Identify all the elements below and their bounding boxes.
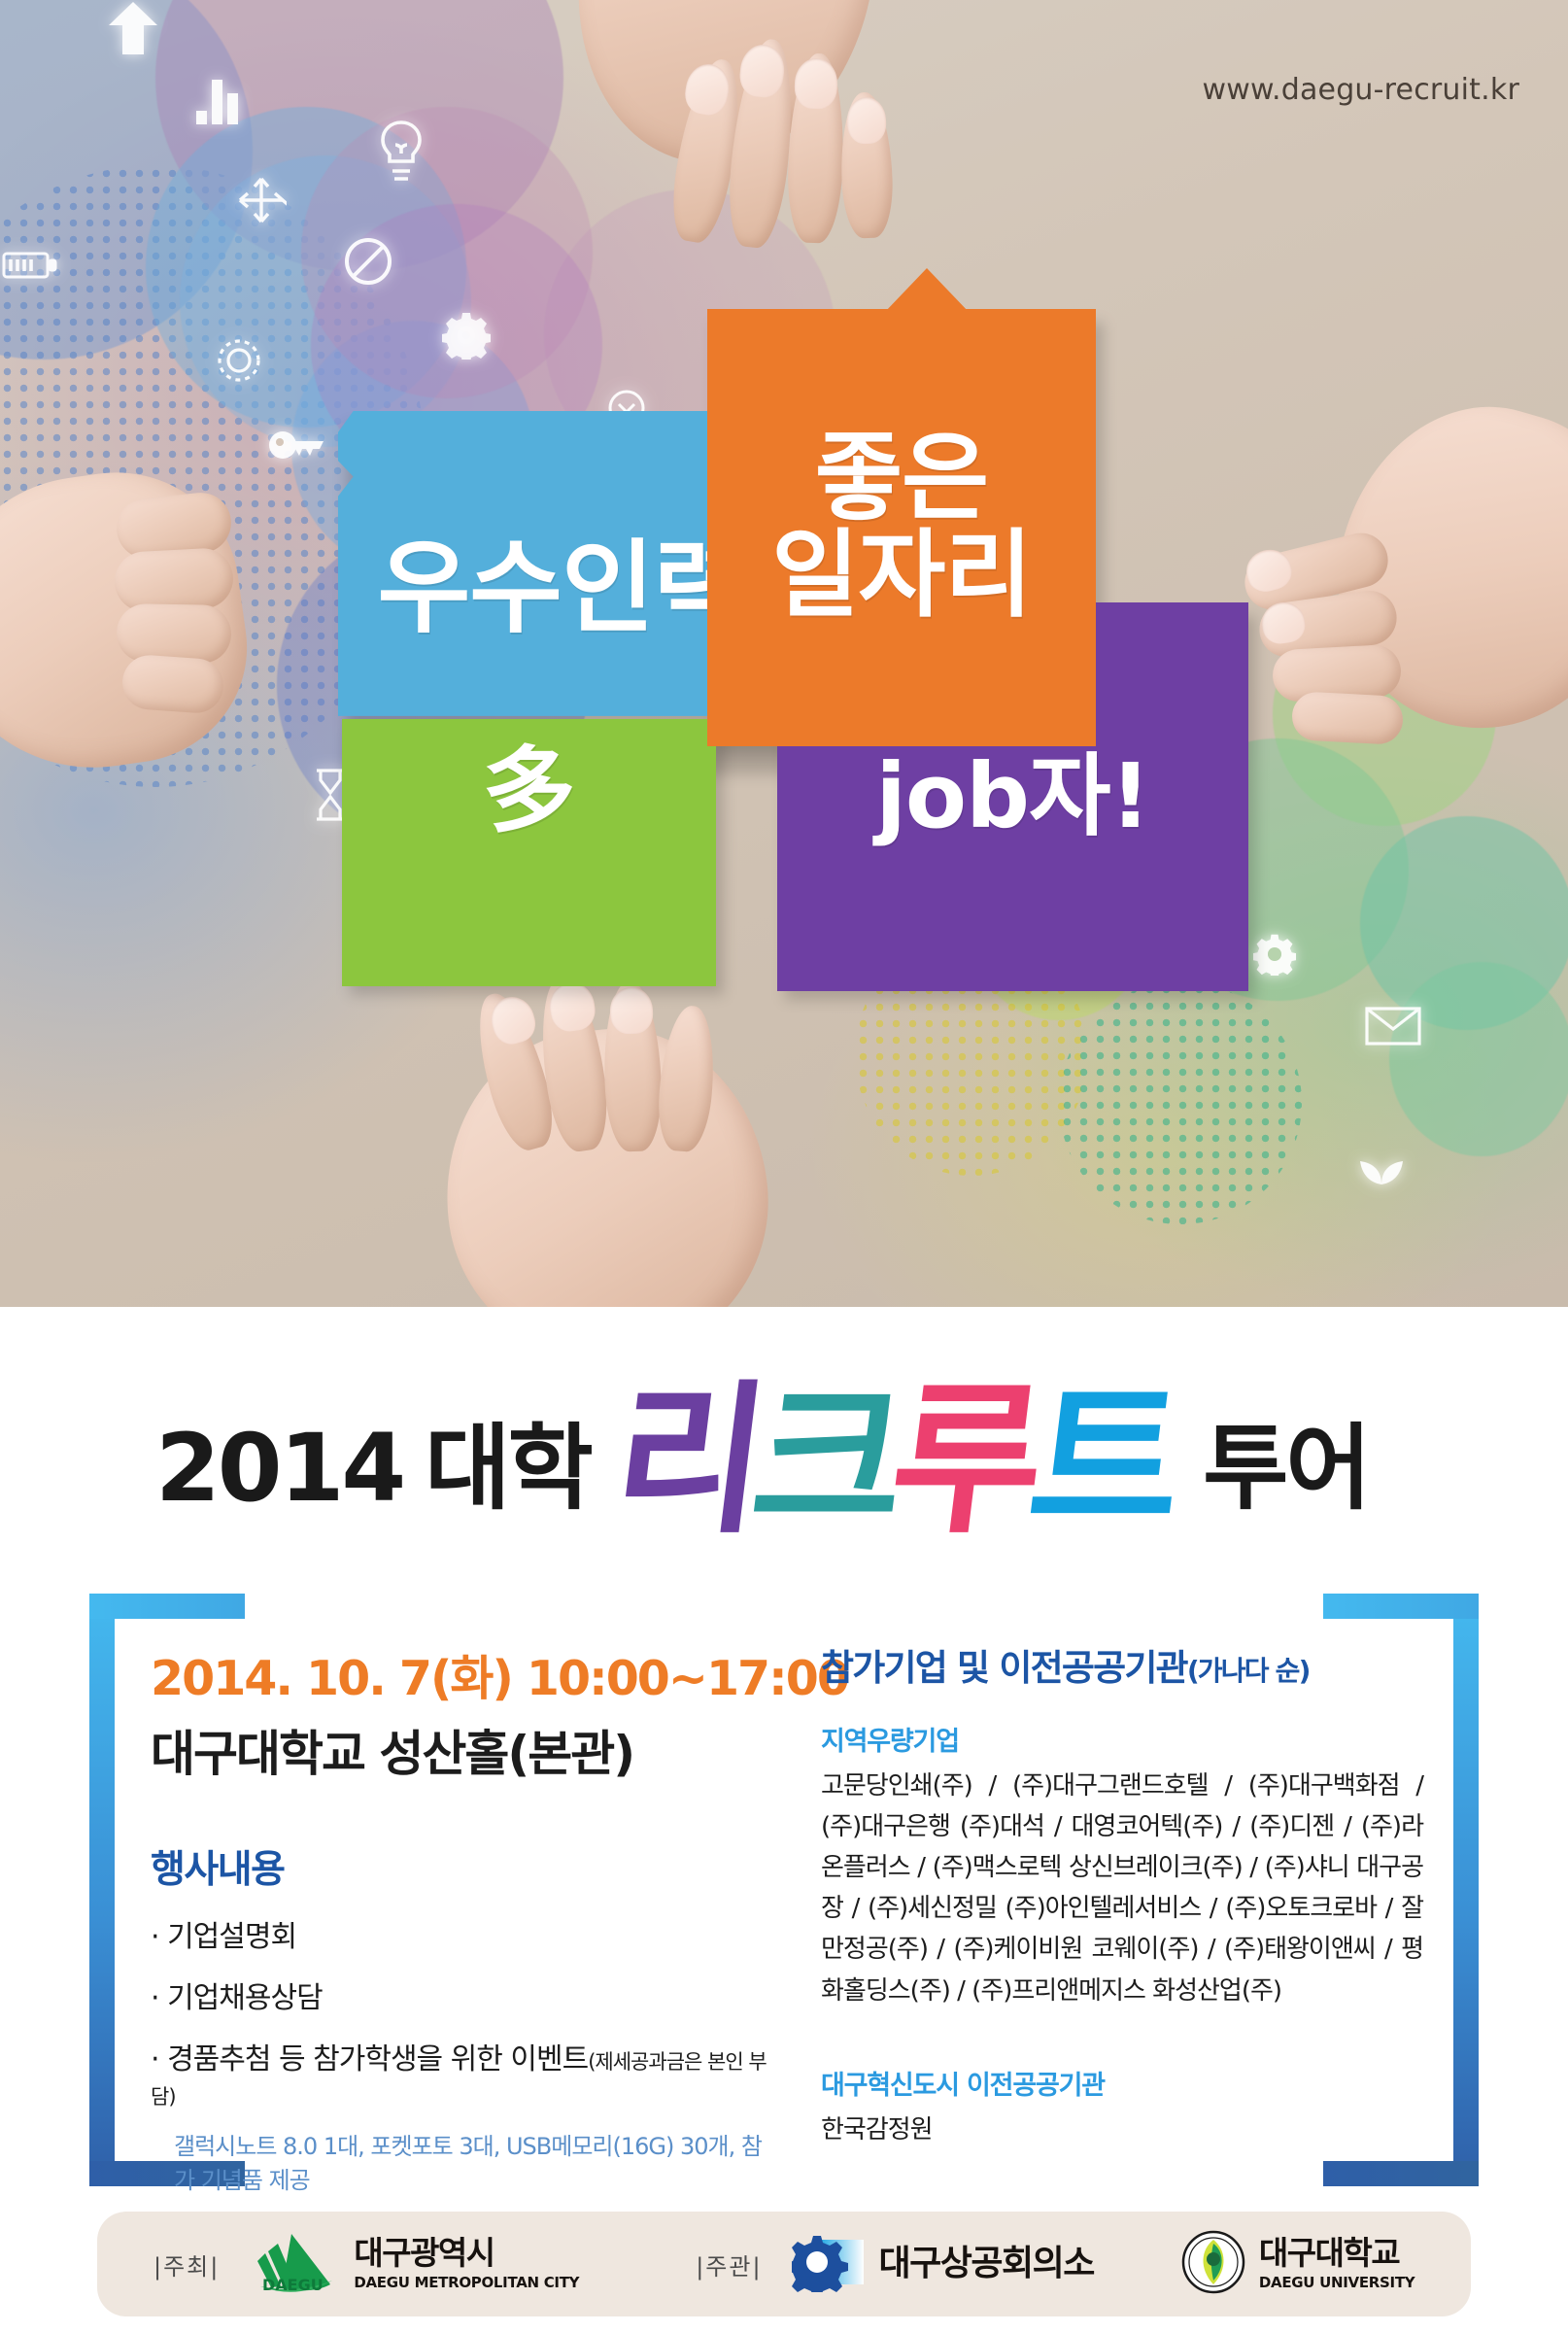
bracket-left-top-arm (89, 1594, 245, 1619)
logo-daegu-university: 대구대학교 DAEGU UNIVERSITY (1181, 2230, 1415, 2298)
gear-outline-icon (209, 330, 269, 391)
event-list-item: · 기업설명회 (151, 1912, 782, 1955)
bracket-left (89, 1594, 115, 2186)
bar-chart-icon (194, 70, 251, 126)
participants-heading: 참가기업 및 이전공공기관(가나다 순) (821, 1638, 1423, 1691)
bracket-right-top-arm (1323, 1594, 1479, 1619)
event-date: 2014. 10. 7(화) 10:00~17:00 (151, 1640, 782, 1709)
envelope-icon (1365, 1006, 1421, 1046)
gear-icon (1253, 933, 1296, 976)
decorative-circle (1389, 962, 1568, 1156)
svg-text:DAEGU: DAEGU (262, 2276, 324, 2294)
bubble-spike (884, 268, 970, 313)
university-emblem-icon (1181, 2230, 1245, 2298)
event-item-text: · 기업설명회 (151, 1920, 296, 1954)
group-heading-relocated: 대구혁신도시 이전공공기관 (821, 2064, 1423, 2102)
battery-icon (2, 250, 58, 281)
group-heading-local-companies: 지역우량기업 (821, 1720, 1423, 1758)
logo-daegu-city: DAEGU 대구광역시 DAEGU METROPOLITAN CITY (249, 2230, 579, 2298)
leaf-icon (1355, 1142, 1408, 1186)
page-title: 2014 대학 리 크 루 트 투어 (0, 1321, 1568, 1530)
event-details-column: 2014. 10. 7(화) 10:00~17:00 대구대학교 성산홀(본관)… (151, 1640, 782, 2283)
hero-banner: 多 우수인력 job자! 좋은 일자리 www.daegu-recruit.kr (0, 0, 1568, 1307)
event-venue: 대구대학교 성산홀(본관) (151, 1715, 782, 1785)
gear-icon (442, 311, 491, 360)
chamber-name-ko: 대구상공회의소 (879, 2247, 1094, 2282)
relocated-institutions-list: 한국감정원 (821, 2110, 1423, 2145)
title-university-word: 대학 (425, 1422, 591, 1530)
event-list-item: · 경품추첨 등 참가학생을 위한 이벤트(제세공과금은 본인 부담) (151, 2035, 782, 2111)
prohibition-icon (343, 236, 393, 287)
participants-heading-main: 참가기업 및 이전공공기관 (821, 1647, 1187, 1689)
decorative-halftone (1059, 981, 1302, 1224)
participants-column: 참가기업 및 이전공공기관(가나다 순) 지역우량기업 고문당인쇄(주) / (… (821, 1638, 1423, 2145)
participants-heading-sub: (가나다 순) (1187, 1655, 1310, 1687)
event-contents-heading: 행사내용 (151, 1839, 782, 1894)
bracket-right (1453, 1594, 1479, 2186)
lightbulb-icon (374, 119, 428, 187)
logo-char-keu: 크 (746, 1390, 902, 1530)
prize-details: 갤럭시노트 8.0 1대, 포켓포토 3대, USB메모리(16G) 30개, … (174, 2127, 782, 2195)
daegu-city-name-ko: 대구광역시 (354, 2237, 579, 2269)
title-tour-word: 투어 (1203, 1422, 1369, 1530)
host-label: |주최| (153, 2247, 220, 2282)
university-name-en: DAEGU UNIVERSITY (1259, 2274, 1415, 2291)
bubble-text-line1: 좋은 (815, 430, 988, 528)
daegu-city-mark-icon: DAEGU (249, 2230, 338, 2298)
arrow-up-icon (107, 0, 159, 56)
move-arrows-icon (236, 175, 287, 225)
logo-chamber-of-commerce: 대구상공회의소 (792, 2232, 1094, 2296)
bubble-text-goodjobs: 좋은 일자리 (707, 309, 1096, 746)
logo-char-ri: 리 (607, 1390, 763, 1530)
event-item-text: · 기업채용상담 (151, 1981, 323, 2015)
logo-char-teu: 트 (1023, 1390, 1178, 1530)
speech-bubble-orange: 좋은 일자리 (707, 309, 1096, 746)
organizer-label: |주관| (696, 2247, 762, 2282)
title-year: 2014 (155, 1422, 403, 1530)
event-list-item: · 기업채용상담 (151, 1973, 782, 2016)
bracket-right-bottom-arm (1323, 2161, 1479, 2186)
university-name-ko: 대구대학교 (1259, 2237, 1415, 2269)
local-companies-list: 고문당인쇄(주) / (주)대구그랜드호텔 / (주)대구백화점 / (주)대구… (821, 1766, 1423, 2011)
bubble-text-line2: 일자리 (771, 528, 1031, 625)
info-section: 2014. 10. 7(화) 10:00~17:00 대구대학교 성산홀(본관)… (0, 1594, 1568, 2215)
logo-char-ru: 루 (884, 1390, 1040, 1530)
event-item-text: · 경품추첨 등 참가학생을 위한 이벤트 (151, 2042, 588, 2076)
website-url[interactable]: www.daegu-recruit.kr (1203, 73, 1519, 107)
key-icon (267, 428, 327, 472)
gear-chamber-icon (792, 2232, 866, 2296)
daegu-city-name-en: DAEGU METROPOLITAN CITY (354, 2274, 579, 2291)
sponsor-footer: |주최| DAEGU 대구광역시 DAEGU METROPOLITAN CITY… (97, 2212, 1471, 2316)
title-logo-recruit: 리 크 루 트 (607, 1390, 1178, 1530)
group-relocated-institutions: 대구혁신도시 이전공공기관 한국감정원 (821, 2064, 1423, 2145)
